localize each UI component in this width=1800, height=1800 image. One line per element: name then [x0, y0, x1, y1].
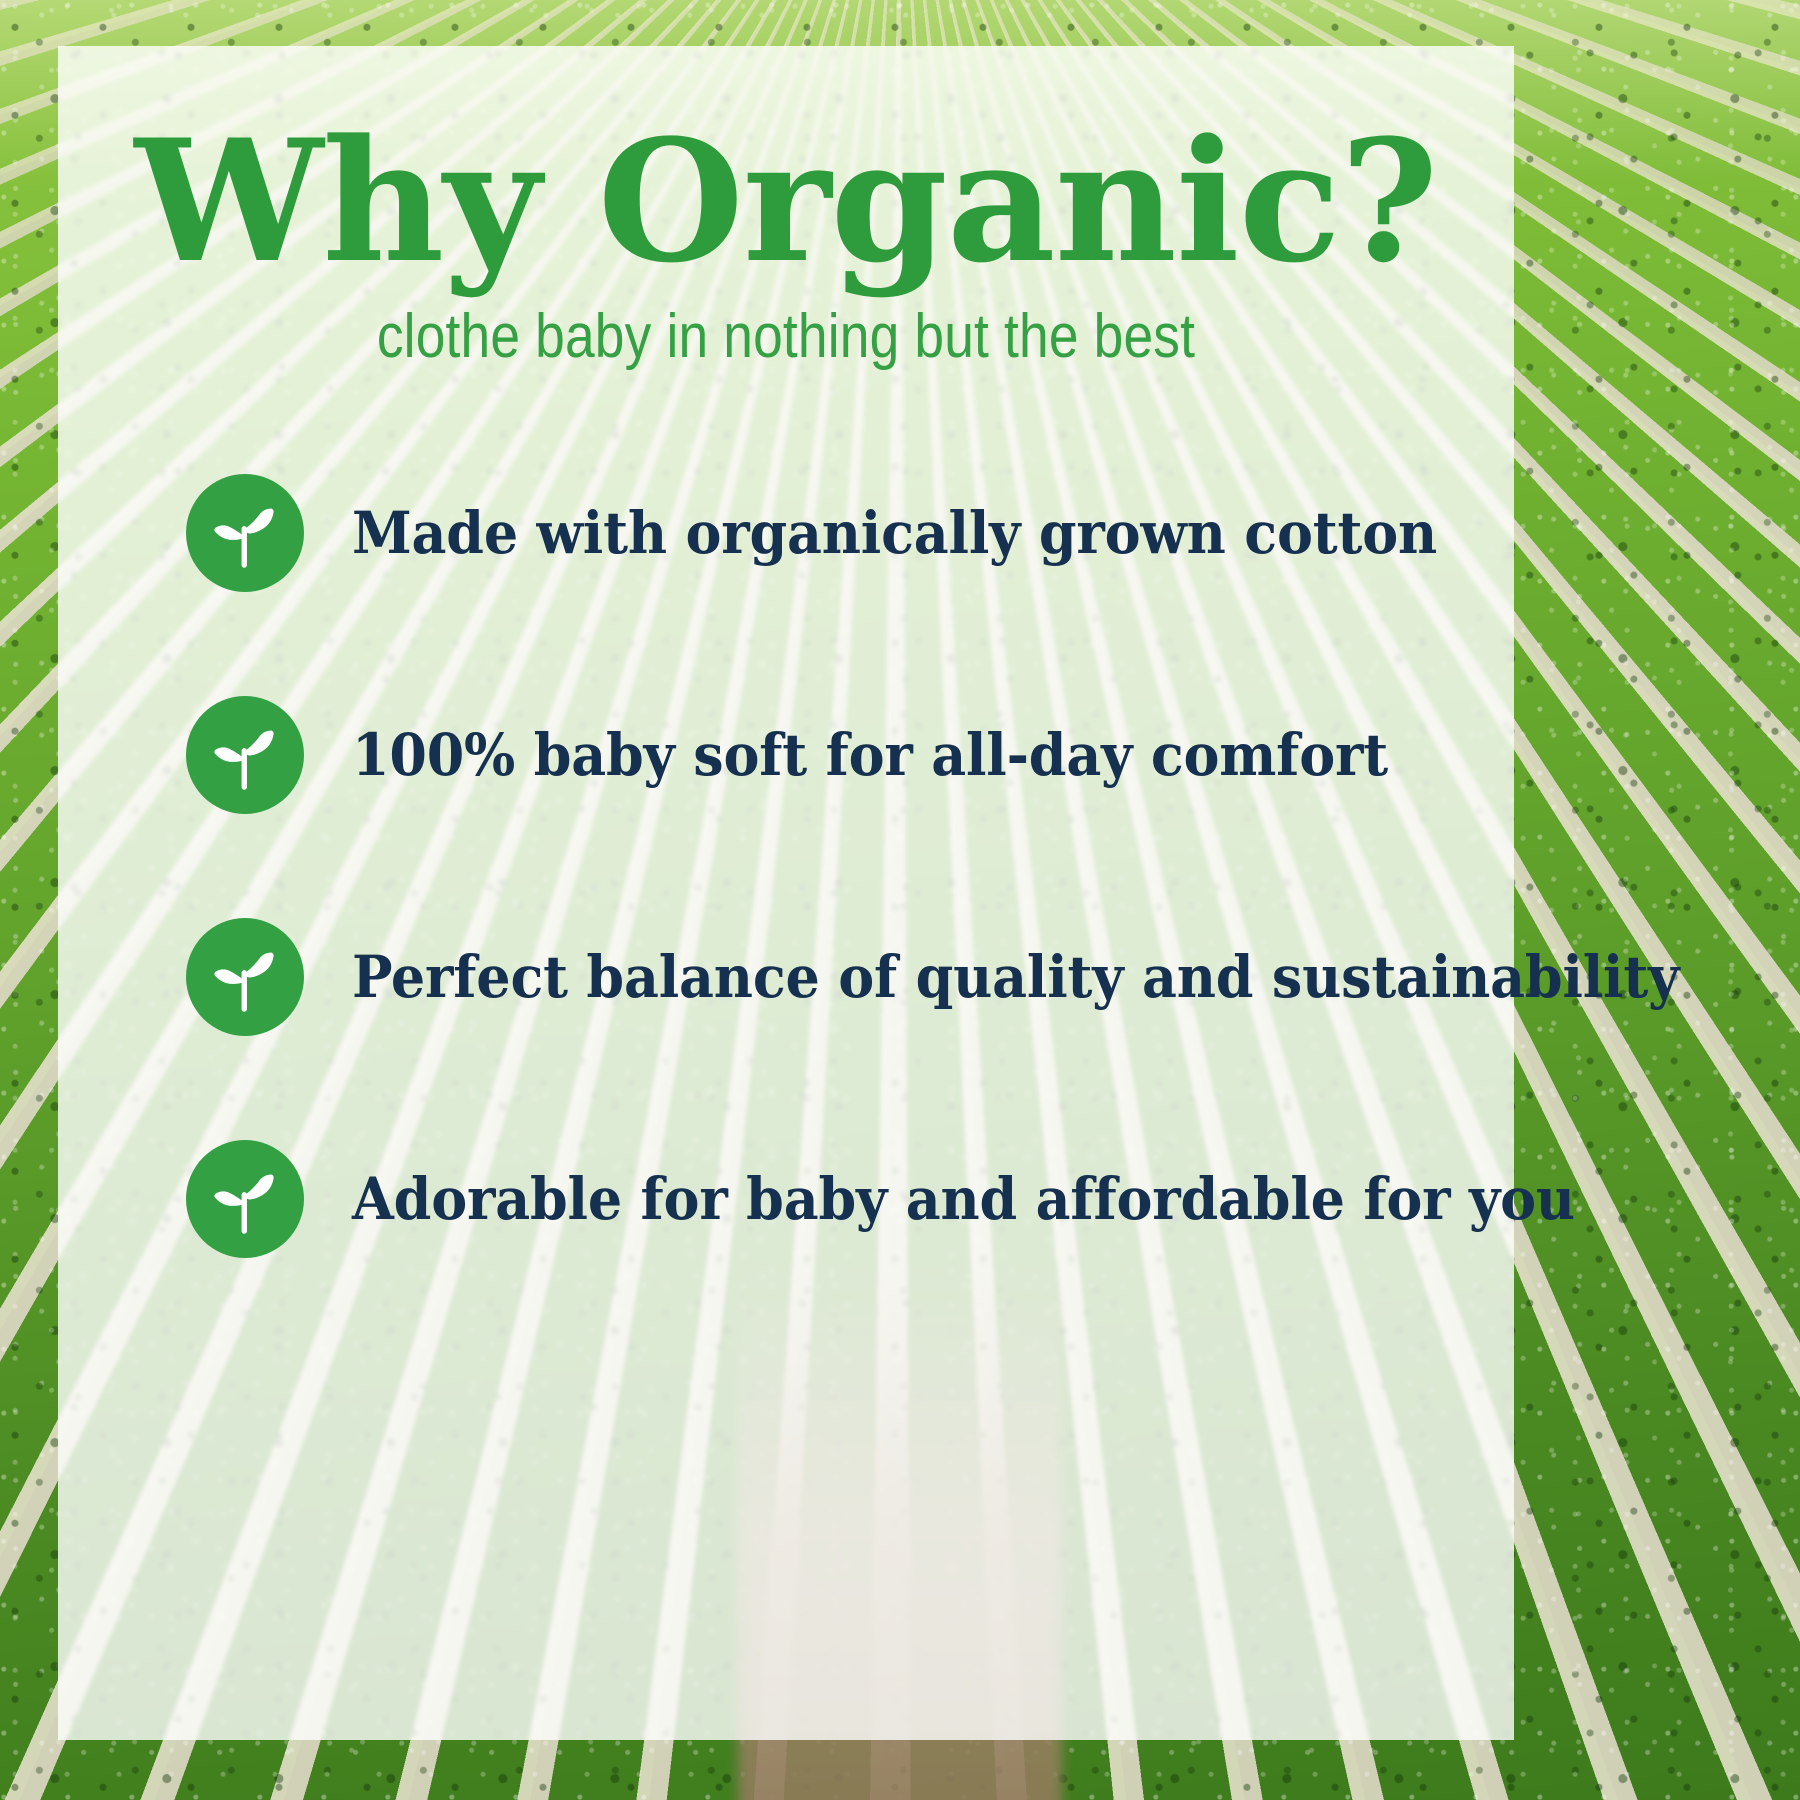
heading-block: Why Organic? clothe baby in nothing but … [58, 116, 1514, 372]
list-item: 100% baby soft for all-day comfort [186, 696, 1474, 814]
page-subtitle: clothe baby in nothing but the best [160, 303, 1412, 371]
benefit-label: Adorable for baby and affordable for you [352, 1167, 1575, 1232]
list-item: Adorable for baby and affordable for you [186, 1140, 1474, 1258]
benefits-list: Made with organically grown cotton 100% … [186, 474, 1474, 1258]
sprout-icon [186, 1140, 304, 1258]
benefit-label: Perfect balance of quality and sustainab… [352, 945, 1679, 1010]
page-title: Why Organic? [58, 116, 1514, 287]
sprout-icon [186, 474, 304, 592]
content-panel: Why Organic? clothe baby in nothing but … [58, 46, 1514, 1740]
benefit-label: 100% baby soft for all-day comfort [352, 723, 1388, 788]
sprout-icon [186, 696, 304, 814]
promo-graphic: Why Organic? clothe baby in nothing but … [0, 0, 1800, 1800]
benefit-label: Made with organically grown cotton [352, 501, 1437, 566]
sprout-icon [186, 918, 304, 1036]
list-item: Perfect balance of quality and sustainab… [186, 918, 1474, 1036]
list-item: Made with organically grown cotton [186, 474, 1474, 592]
